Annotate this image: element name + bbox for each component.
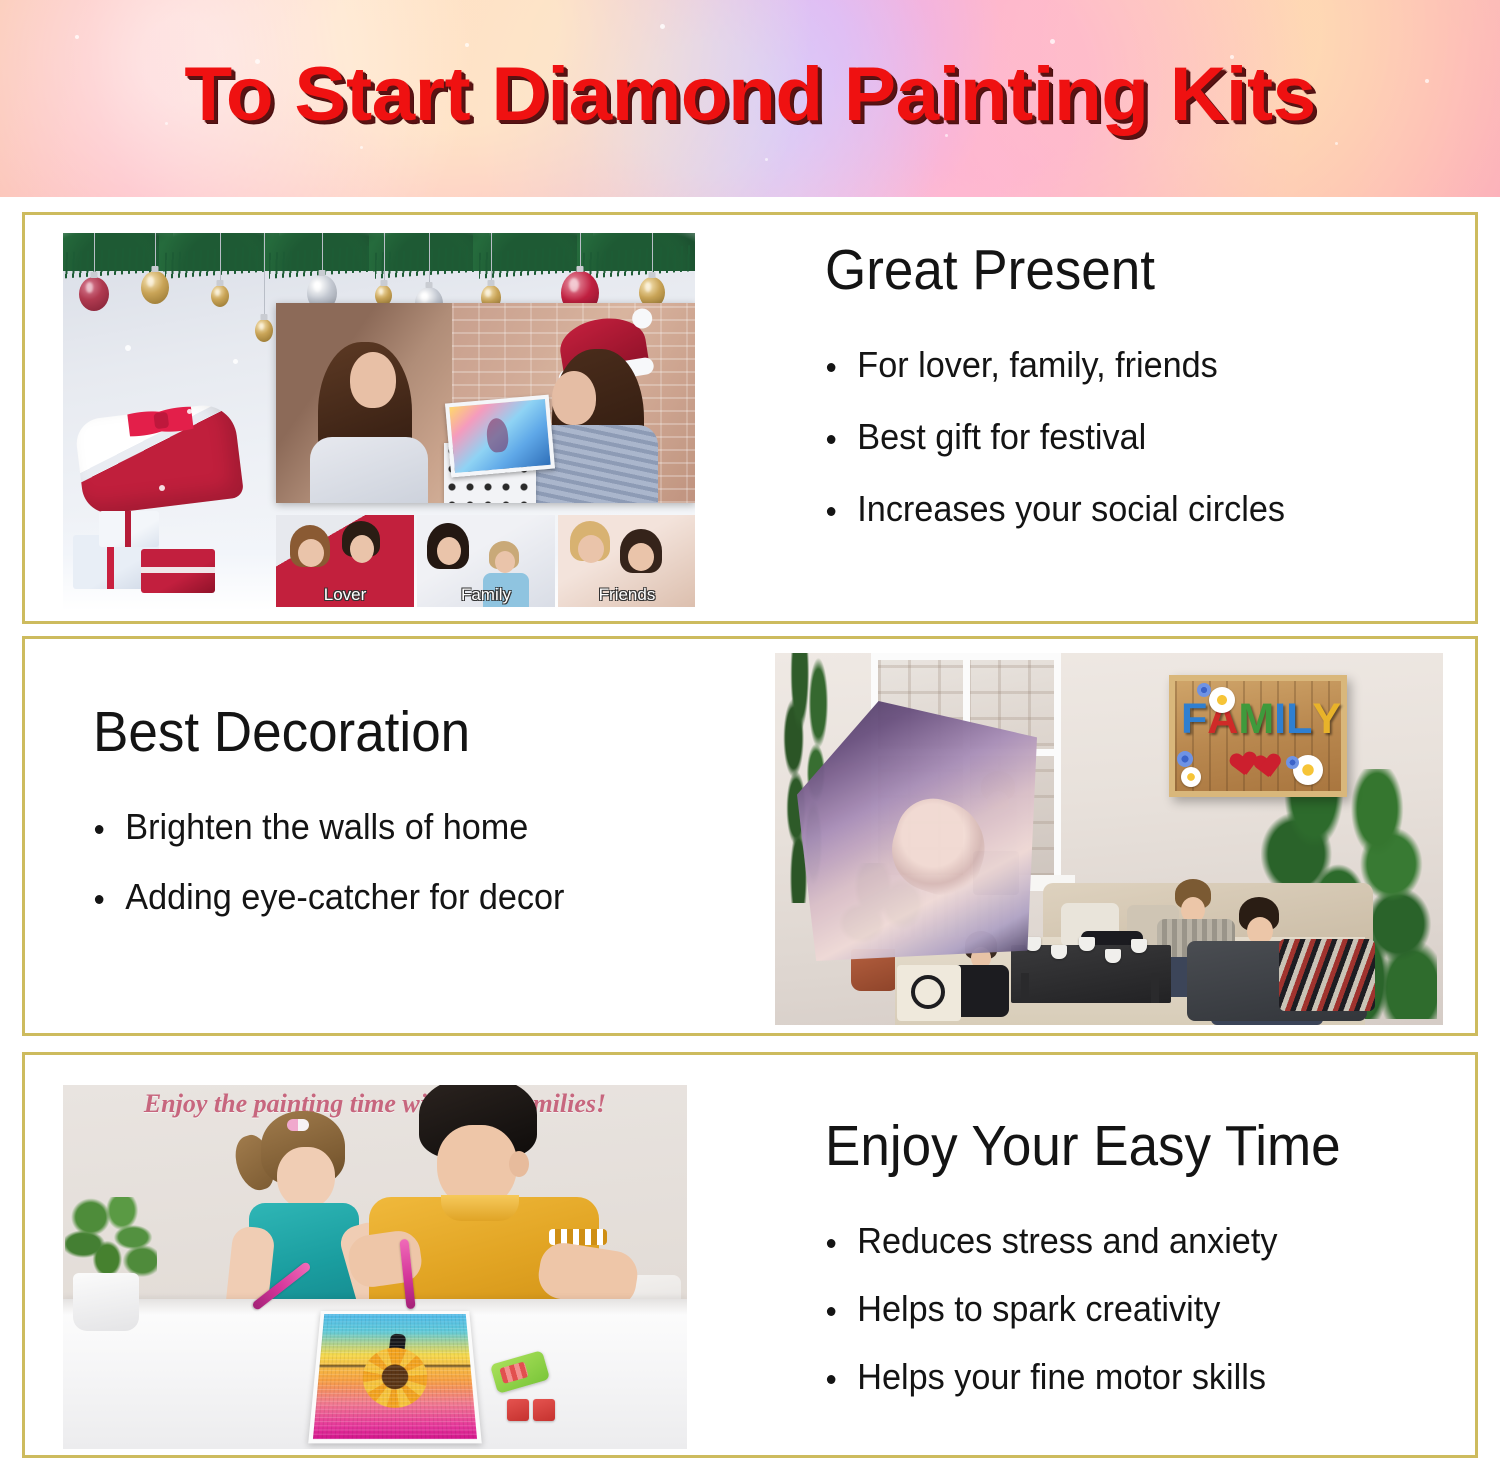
father-daughter-painting-image: Enjoy the painting time with your famili… [63,1085,687,1449]
relationship-thumbnails: Lover Family Fr [276,515,695,607]
list-item: Helps your fine motor skills [825,1355,1352,1399]
list-item: Best gift for festival [825,415,1285,459]
panel-best-decoration: Best Decoration Brighten the walls of ho… [22,636,1478,1036]
cornflower-icon [1286,756,1299,769]
coffee-table [1011,945,1171,1003]
woman-left [304,328,434,503]
diamond-painting-canvas [445,395,555,478]
panel-heading: Great Present [825,239,1275,301]
potted-plant [65,1197,157,1281]
thumbnail-family: Family [417,515,555,607]
family-letters: F A M I L Y [1181,697,1335,741]
sunflower-diamond-painting [308,1311,482,1443]
thumbnail-label: Lover [276,585,414,605]
living-room-friends-image: F A M I L Y [775,653,1443,1025]
canvas-letter: F [1181,697,1207,741]
wax-square-icon [507,1399,529,1421]
great-present-text-block: Great Present For lover, family, friends… [825,239,1309,559]
canvas-letter: I [1274,697,1286,741]
benefit-list: Reduces stress and anxiety Helps to spar… [825,1219,1379,1399]
canvas-letter: M [1238,697,1274,741]
infographic-page: To Start Diamond Painting Kits [0,0,1500,1466]
gift-pile [71,395,281,595]
striped-throw-blanket [1279,939,1375,1011]
page-title: To Start Diamond Painting Kits [0,52,1500,138]
ornament-icon [255,319,273,342]
ornament-icon [141,271,169,304]
thumbnail-label: Friends [558,585,695,605]
peace-sign-cushion [897,965,961,1021]
white-plant-pot [73,1273,139,1331]
daisy-icon [1209,687,1235,713]
thumbnail-label: Family [417,585,555,605]
list-item: For lover, family, friends [825,343,1285,387]
family-wall-canvas: F A M I L Y [1169,675,1347,797]
list-item: Reduces stress and anxiety [825,1219,1352,1263]
panel-great-present: Lover Family Fr [22,212,1478,624]
santa-boot-icon [74,402,245,517]
thumbnail-friends: Friends [558,515,695,607]
list-item: Adding eye-catcher for decor [93,875,564,919]
enjoy-time-text-block: Enjoy Your Easy Time Reduces stress and … [825,1115,1379,1423]
benefit-list: For lover, family, friends Best gift for… [825,343,1309,531]
girl-child [231,1111,381,1321]
list-item: Increases your social circles [825,487,1285,531]
canvas-letter: Y [1312,697,1341,741]
ornament-icon [211,285,229,307]
daisy-icon [1181,767,1201,787]
couple-exchanging-gift-photo [276,303,695,503]
silhouette-figure [387,1333,406,1364]
wax-square-icon [533,1399,555,1421]
panel-heading: Enjoy Your Easy Time [825,1115,1341,1177]
hair-clip-icon [287,1119,309,1131]
list-item: Brighten the walls of home [93,805,564,849]
benefit-list: Brighten the walls of home Adding eye-ca… [93,805,589,919]
panel-enjoy-your-easy-time: Enjoy the painting time with your famili… [22,1052,1478,1458]
father [363,1085,613,1327]
canvas-letter: L [1286,697,1312,741]
panel-heading: Best Decoration [93,701,555,763]
best-decoration-text-block: Best Decoration Brighten the walls of ho… [93,701,589,945]
cornflower-icon [1197,683,1211,697]
ornament-icon [79,277,109,311]
list-item: Helps to spark creativity [825,1287,1352,1331]
sunflower-icon [362,1348,429,1408]
thumbnail-lover: Lover [276,515,414,607]
header-banner: To Start Diamond Painting Kits [0,0,1500,197]
heart-icon [1253,753,1282,780]
cornflower-icon [1177,751,1193,767]
christmas-gift-collage-image: Lover Family Fr [63,233,695,611]
